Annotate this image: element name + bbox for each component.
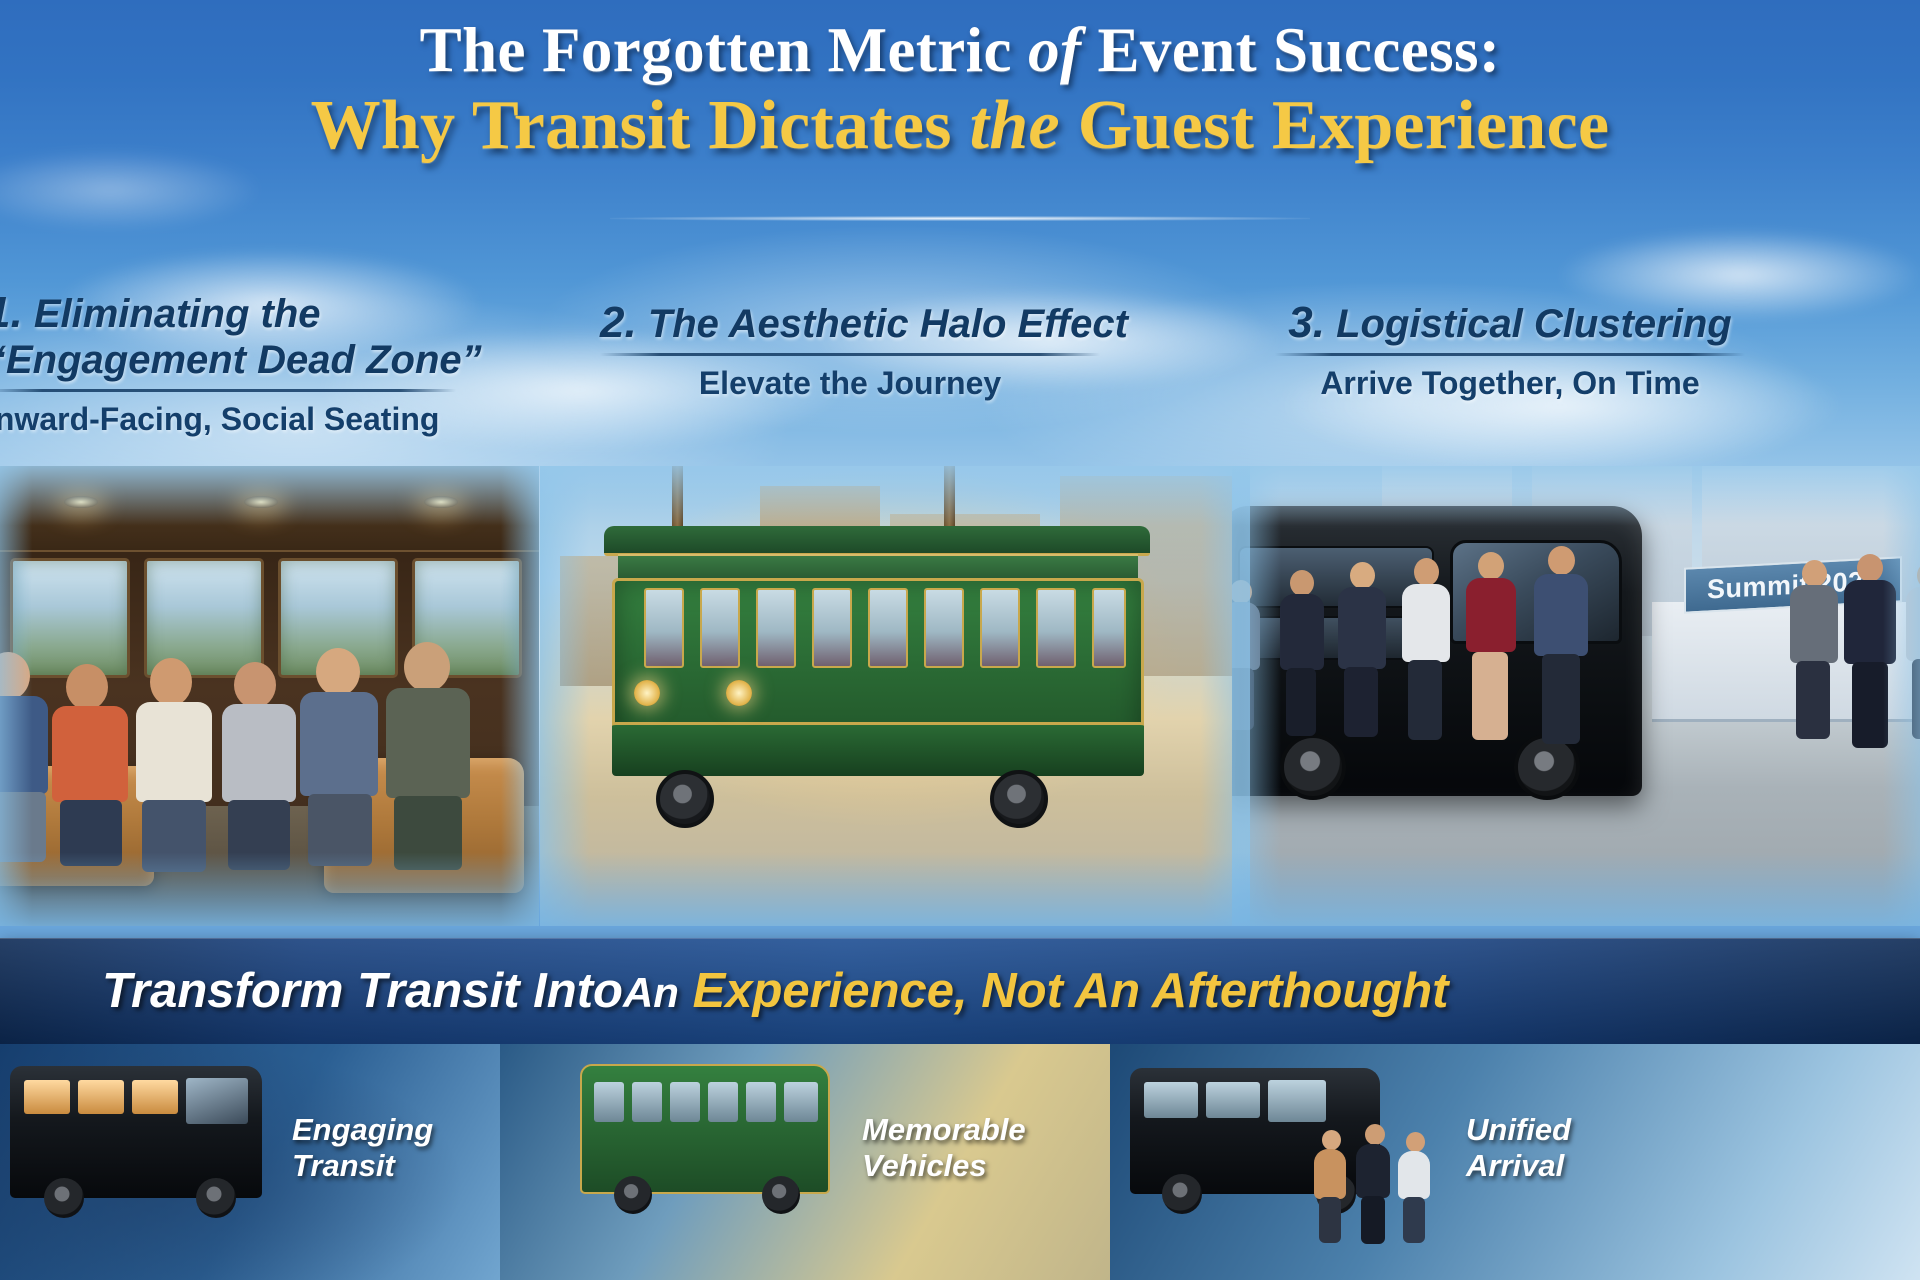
column-3-heading: 3. Logistical Clustering	[1275, 298, 1745, 348]
column-2-heading-line1: The Aesthetic Halo Effect	[637, 302, 1128, 346]
figure-attendee	[1278, 570, 1324, 736]
column-2-number: 2.	[600, 298, 637, 347]
column-2-heading: 2. The Aesthetic Halo Effect	[600, 298, 1100, 348]
mini-trolley-icon	[580, 1064, 830, 1194]
figure-passenger	[222, 662, 296, 868]
column-header-3: 3. Logistical Clustering Arrive Together…	[1275, 298, 1745, 402]
column-header-2: 2. The Aesthetic Halo Effect Elevate the…	[600, 298, 1100, 402]
footer-label-2-line2: Vehicles	[862, 1148, 1026, 1184]
footer-label-1-line1: Engaging	[292, 1112, 433, 1148]
banner-gold-text: Experience, Not An Afterthought	[679, 964, 1449, 1018]
figure-attendee	[1336, 562, 1386, 738]
title-line2-part-a: Why Transit Dictates	[311, 87, 970, 164]
column-3-subheading: Arrive Together, On Time	[1275, 365, 1745, 402]
panel-row: Summit 2022	[0, 466, 1920, 926]
column-3-number: 3.	[1288, 298, 1325, 347]
column-1-subheading: Inward-Facing, Social Seating	[0, 401, 456, 438]
panel-image-black-coach: Summit 2022	[1232, 466, 1920, 926]
callout-banner: Transform Transit IntoAn Experience, Not…	[0, 938, 1920, 1044]
figure-passenger	[136, 658, 212, 868]
title-divider-rule	[610, 216, 1310, 221]
figure-attendee	[1904, 562, 1920, 740]
title-line1-part-a: The Forgotten Metric	[420, 15, 1028, 85]
banner-white-text-a: Transform Transit	[102, 964, 533, 1018]
wheel-icon	[762, 1176, 800, 1214]
title-line1-italic: of	[1028, 15, 1081, 85]
banner-white-text-b: Into	[533, 964, 623, 1018]
column-1-heading-line1: Eliminating the	[23, 292, 321, 336]
figure-passenger	[0, 652, 50, 862]
footer-label-2-line1: Memorable	[862, 1112, 1026, 1148]
figure-passenger	[386, 642, 470, 868]
footer-cell-memorable-vehicles: Memorable Vehicles	[500, 1044, 1120, 1280]
figure-guest	[1314, 1130, 1348, 1242]
title-line-1: The Forgotten Metric of Event Success:	[0, 18, 1920, 84]
figure-guest	[1398, 1132, 1432, 1242]
title-line2-italic: the	[970, 87, 1060, 164]
column-1-number: 1.	[0, 288, 23, 337]
infographic-canvas: The Forgotten Metric of Event Success: W…	[0, 0, 1920, 1280]
figure-attendee	[1232, 580, 1260, 730]
column-2-subheading: Elevate the Journey	[600, 365, 1100, 402]
figure-attendee	[1400, 558, 1450, 744]
banner-white-italic-small: An	[623, 969, 679, 1016]
footer-label-3-line2: Arrival	[1466, 1148, 1571, 1184]
wheel-icon	[196, 1178, 236, 1218]
footer-label-1-line2: Transit	[292, 1148, 433, 1184]
title-line1-part-b: Event Success:	[1081, 15, 1500, 85]
figure-guest	[1356, 1124, 1392, 1244]
figure-attendee	[1842, 554, 1896, 750]
column-1-heading: 1. Eliminating the	[0, 288, 456, 338]
panel-image-bus-interior	[0, 466, 539, 926]
panel-image-green-trolley	[540, 466, 1250, 926]
figure-attendee	[1788, 560, 1838, 740]
column-header-1: 1. Eliminating the “Engagement Dead Zone…	[0, 288, 456, 438]
green-trolley-vehicle	[592, 526, 1162, 836]
figure-attendee	[1464, 552, 1516, 744]
footer-label-3-line1: Unified	[1466, 1112, 1571, 1148]
column-1-rule	[0, 389, 456, 392]
footer-strip: Engaging Transit Memorable Vehicles	[0, 1044, 1920, 1280]
footer-cell-unified-arrival: Unified Arrival	[1110, 1044, 1920, 1280]
wheel-icon	[1162, 1174, 1202, 1214]
title-line-2: Why Transit Dictates the Guest Experienc…	[0, 90, 1920, 163]
column-3-rule	[1275, 353, 1745, 356]
figure-passenger	[52, 664, 128, 864]
figure-attendee	[1532, 546, 1588, 746]
wheel-icon	[44, 1178, 84, 1218]
column-3-heading-line1: Logistical Clustering	[1325, 302, 1732, 346]
title-line2-part-b: Guest Experience	[1060, 87, 1609, 164]
wheel-icon	[614, 1176, 652, 1214]
column-2-rule	[600, 353, 1100, 356]
figure-passenger	[300, 648, 378, 864]
mini-coach-icon	[10, 1066, 262, 1198]
page-title: The Forgotten Metric of Event Success: W…	[0, 18, 1920, 162]
column-1-heading-line2: “Engagement Dead Zone”	[0, 338, 456, 384]
footer-cell-engaging-transit: Engaging Transit	[0, 1044, 560, 1280]
